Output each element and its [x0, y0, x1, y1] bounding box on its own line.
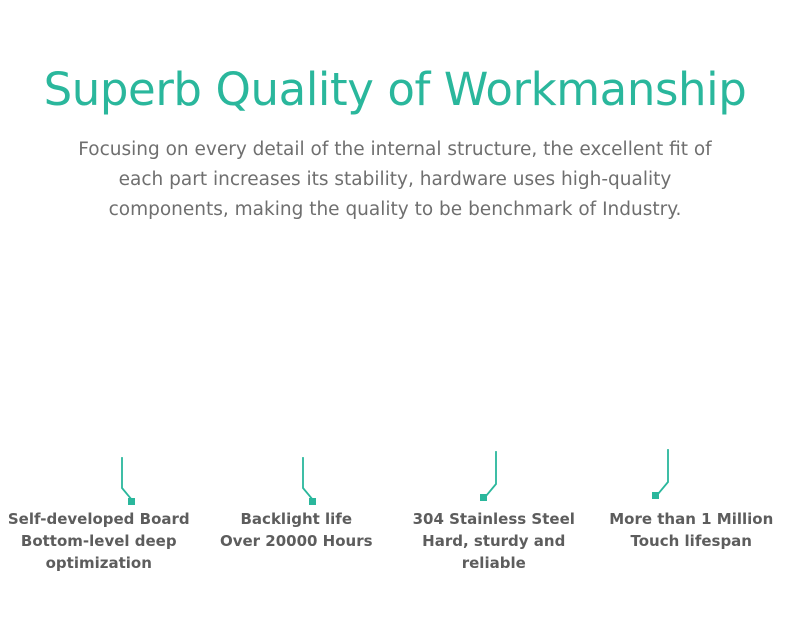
page-subtitle: Focusing on every detail of the internal…	[65, 115, 725, 225]
caption-line: 304 Stainless Steel	[401, 508, 587, 530]
caption-lcd-panel: Backlight life Over 20000 Hours	[198, 508, 396, 574]
caption-line: Backlight life	[204, 508, 390, 530]
header-block: Superb Quality of Workmanship Focusing o…	[0, 0, 790, 225]
caption-leader-lines	[122, 450, 668, 505]
caption-touch-glass: More than 1 Million Touch lifespan	[593, 508, 790, 574]
caption-line: optimization	[6, 552, 192, 574]
caption-line: Self-developed Board	[6, 508, 192, 530]
caption-line: reliable	[401, 552, 587, 574]
captions-row: Self-developed Board Bottom-level deep o…	[0, 508, 790, 574]
caption-driver-board: Self-developed Board Bottom-level deep o…	[0, 508, 198, 574]
caption-line: Touch lifespan	[599, 530, 785, 552]
page-title: Superb Quality of Workmanship	[0, 0, 790, 115]
caption-line: Hard, sturdy and	[401, 530, 587, 552]
caption-steel-frame: 304 Stainless Steel Hard, sturdy and rel…	[395, 508, 593, 574]
caption-line: Over 20000 Hours	[204, 530, 390, 552]
caption-line: Bottom-level deep	[6, 530, 192, 552]
exploded-product-diagram	[0, 270, 790, 510]
caption-line: More than 1 Million	[599, 508, 785, 530]
